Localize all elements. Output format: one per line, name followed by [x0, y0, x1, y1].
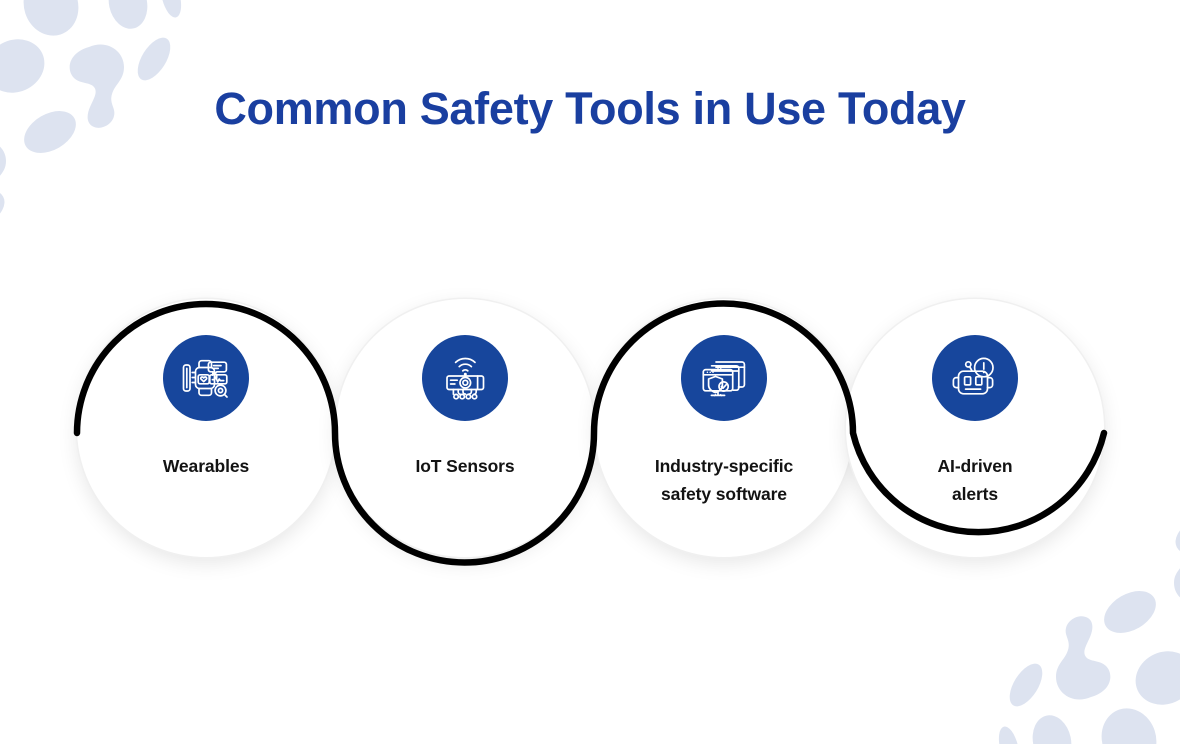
icon-badge-ai-driven-alerts[interactable]	[932, 335, 1018, 421]
iot-sensor-wifi-icon	[437, 350, 493, 406]
icon-badge-iot-sensors[interactable]	[422, 335, 508, 421]
robot-alert-icon	[947, 350, 1003, 406]
infographic-canvas: Common Safety Tools in Use Today	[0, 0, 1180, 744]
node-label-wearables: Wearables	[71, 452, 341, 480]
node-label-iot-sensors: IoT Sensors	[330, 452, 600, 480]
smartwatch-health-icon	[178, 350, 234, 406]
node-label-industry-safety-software: Industry-specific safety software	[589, 452, 859, 509]
icon-badge-industry-safety-software[interactable]	[681, 335, 767, 421]
monitor-shield-check-icon	[696, 350, 752, 406]
icon-badge-wearables[interactable]	[163, 335, 249, 421]
safety-tools-flow-diagram: Wearables IoT Sensors Industry-specific …	[0, 0, 1180, 744]
node-label-ai-driven-alerts: AI-driven alerts	[840, 452, 1110, 509]
